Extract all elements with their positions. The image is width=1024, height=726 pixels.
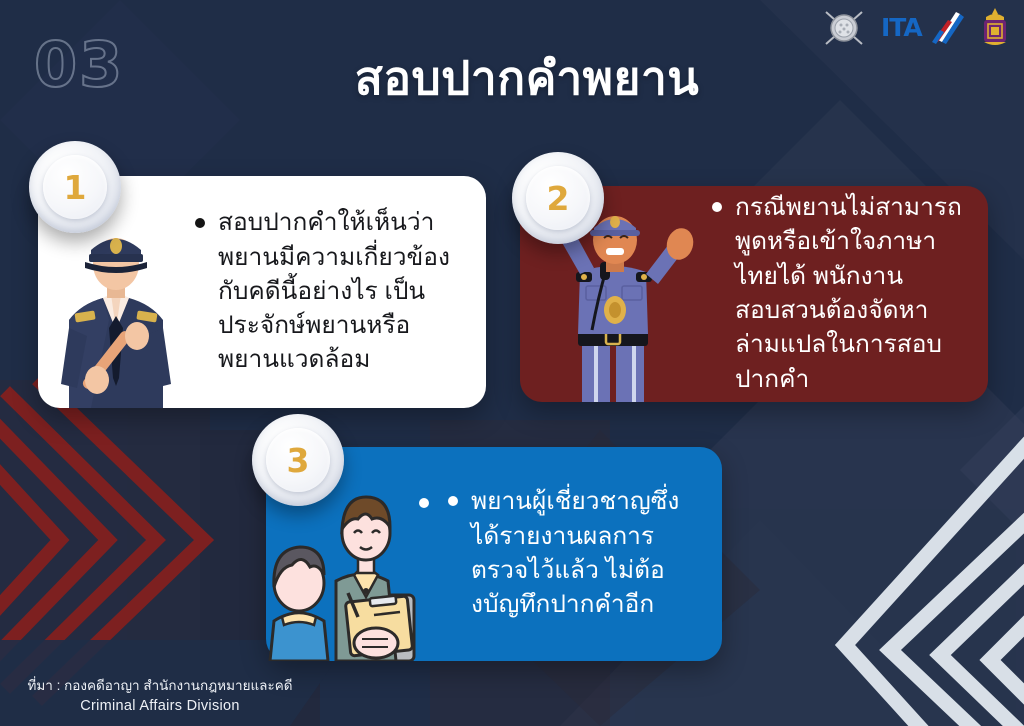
card-2-text: กรณีพยานไม่สามารถพูดหรือเข้าใจภาษาไทยได้… [735,191,966,397]
card-1-text: สอบปากคำให้เห็นว่าพยานมีความเกี่ยวข้องกั… [218,206,464,377]
thai-royal-crest-emblem-icon [978,7,1012,49]
step-badge-1: 1 [29,141,121,233]
bullet-icon [712,202,722,212]
card-1-body: สอบปากคำให้เห็นว่าพยานมีความเกี่ยวข้องกั… [193,196,486,387]
footer-source: ที่มา : กองคดีอาญา สำนักงานกฎหมายและคดี … [10,676,310,718]
step-badge-1-number: 1 [64,171,87,204]
step-badge-2: 2 [512,152,604,244]
footer-source-english: Criminal Affairs Division [10,696,310,718]
ita-logo: ITA [880,8,966,48]
logo-bar: ITA [820,6,1012,50]
step-badge-3-inner: 3 [266,428,330,492]
card-3-body: พยานผู้เชี่ยวชาญซึ่งได้รายงานผลการตรวจไว… [446,475,722,632]
step-badge-2-number: 2 [547,182,570,215]
step-badge-2-inner: 2 [526,166,590,230]
infographic-slide: 03 สอบปากคำพยาน ITA [0,0,1024,726]
step-badge-1-inner: 1 [43,155,107,219]
royal-thai-police-emblem-icon [820,6,868,50]
bullet-icon [448,496,458,506]
step-badge-3-number: 3 [287,444,310,477]
card-3-text: พยานผู้เชี่ยวชาญซึ่งได้รายงานผลการตรวจไว… [471,485,700,622]
step-badge-3: 3 [252,414,344,506]
svg-text:ITA: ITA [881,13,923,42]
card-2-body: กรณีพยานไม่สามารถพูดหรือเข้าใจภาษาไทยได้… [710,181,988,407]
page-title: สอบปากคำพยาน [0,42,1024,115]
bullet-icon [195,218,205,228]
footer-source-thai: ที่มา : กองคดีอาญา สำนักงานกฎหมายและคดี [10,676,310,696]
